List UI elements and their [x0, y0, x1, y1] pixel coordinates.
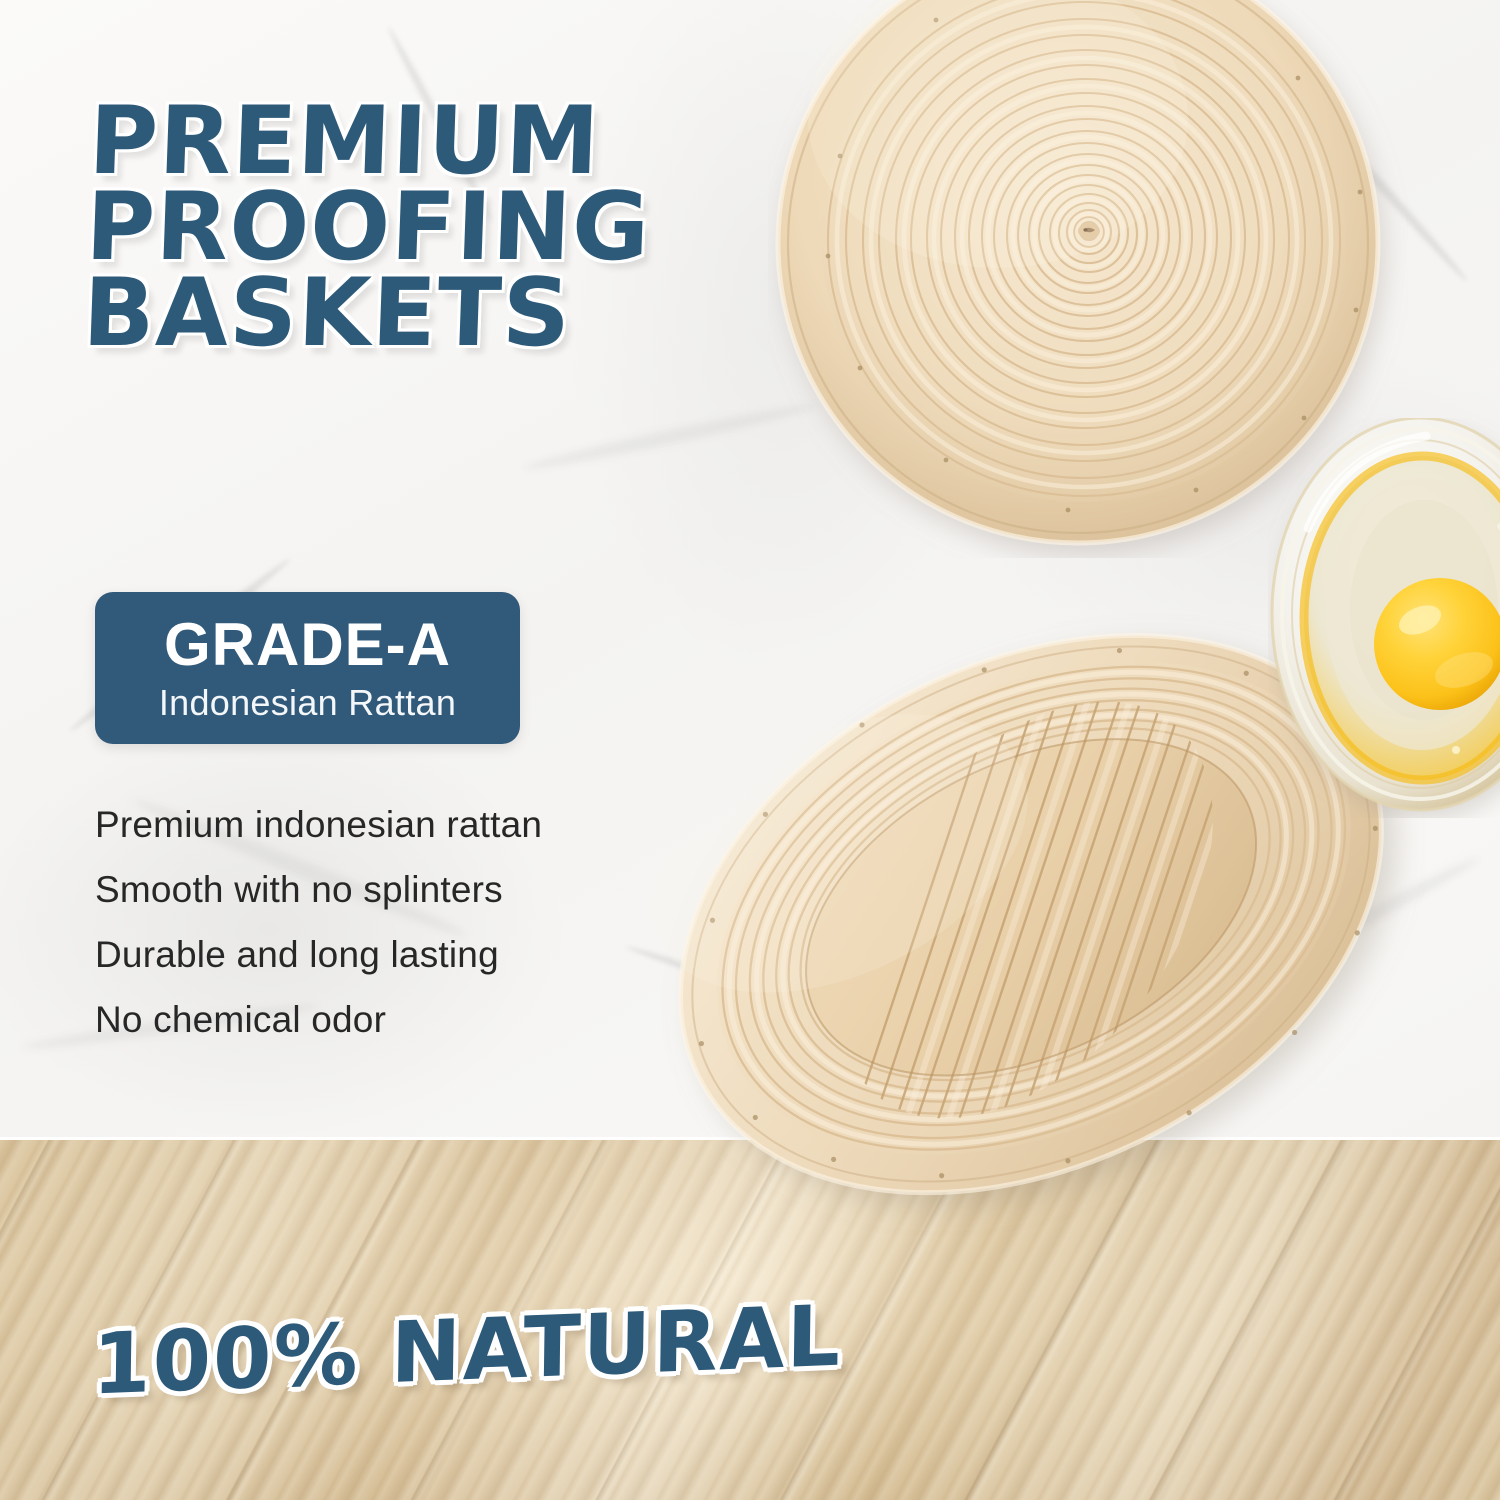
feature-item: Durable and long lasting	[95, 936, 715, 973]
glass-bowl-with-egg-photo	[1268, 418, 1500, 818]
feature-item: Smooth with no splinters	[95, 871, 715, 908]
feature-list: Premium indonesian rattan Smooth with no…	[95, 806, 715, 1066]
badge-subtitle: Indonesian Rattan	[159, 685, 456, 721]
feature-item: No chemical odor	[95, 1001, 715, 1038]
badge-title: GRADE-A	[164, 615, 451, 675]
page-title: PREMIUM PROOFING BASKETS	[81, 96, 730, 360]
headline-line-3: BASKETS	[81, 268, 724, 360]
grade-a-badge: GRADE-A Indonesian Rattan	[95, 592, 520, 744]
infographic-canvas: PREMIUM PROOFING BASKETS GRADE-A Indones…	[0, 0, 1500, 1500]
feature-item: Premium indonesian rattan	[95, 806, 715, 843]
